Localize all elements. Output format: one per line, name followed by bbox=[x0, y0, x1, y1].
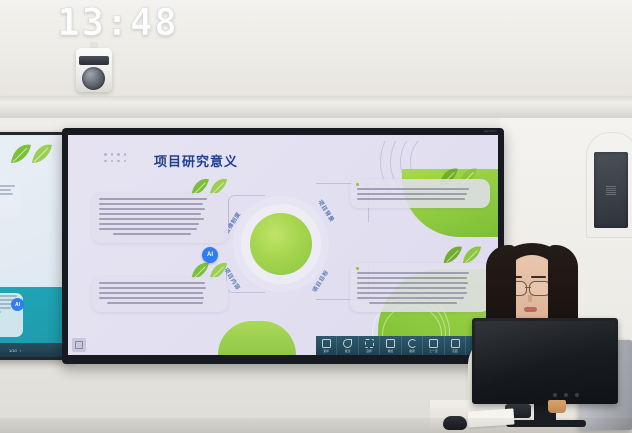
wall-trim-molding bbox=[0, 96, 632, 118]
toolbar-item-eraser[interactable]: 橡皮 bbox=[380, 336, 401, 355]
green-shape-bottom-left bbox=[218, 321, 296, 355]
next-icon[interactable]: › bbox=[20, 346, 28, 354]
leaf-icon bbox=[7, 141, 53, 167]
desk-cup bbox=[548, 400, 566, 413]
toolbar-item-select[interactable]: 选择 bbox=[359, 336, 380, 355]
wall-panel-outline bbox=[586, 132, 632, 238]
page-indicator: 1/10 bbox=[9, 348, 17, 353]
monitor-button[interactable] bbox=[553, 393, 557, 397]
secondary-text-card bbox=[0, 183, 21, 217]
title-dot-decor bbox=[104, 153, 144, 166]
ai-watermark-badge: AI bbox=[11, 298, 24, 311]
toolbar-item-menu[interactable]: 菜单 bbox=[316, 336, 337, 355]
center-circle-graphic bbox=[250, 213, 312, 275]
toolbar-item-pen[interactable]: 批注 bbox=[337, 336, 358, 355]
slide-text-card-top-left: 强制清算法律制度设立的目的还是通过正义程序的确立，实现平等保护各方利益主体目的，… bbox=[92, 193, 228, 243]
select-icon bbox=[365, 339, 374, 348]
slide-text-card-bottom-left: 本项目对我国清算义务人概念的确立的过程进行系统性梳理，明确清算义务的性质和具体内… bbox=[92, 277, 228, 312]
presenter-mouth bbox=[524, 307, 537, 312]
page-icon bbox=[451, 339, 460, 348]
glasses-bridge bbox=[525, 287, 531, 288]
interactive-whiteboard[interactable]: 项目研究意义 法律制度 项目背景 项目内容 项目目标 bbox=[62, 128, 504, 364]
clock-time: 13:48 bbox=[57, 1, 178, 44]
monitor-screen[interactable] bbox=[475, 321, 615, 399]
toolbox-icon[interactable] bbox=[72, 338, 86, 352]
led-wall-clock: 13:48 bbox=[64, 2, 172, 42]
pen-icon bbox=[343, 339, 352, 348]
prev-icon[interactable]: ‹ bbox=[0, 346, 6, 354]
monitor-buttons[interactable] bbox=[553, 393, 579, 397]
classroom-scene: 13:48 bbox=[0, 0, 632, 433]
menu-icon bbox=[322, 339, 331, 348]
camera-ir-strip bbox=[79, 56, 109, 65]
security-camera-icon bbox=[76, 48, 112, 92]
ai-watermark-badge: AI bbox=[202, 247, 218, 263]
slide-text-card-bottom-right: 本项目对司法实践中涉及清算义务人责任问题的纠纷案件进行梳理归纳，结合法律规范，从… bbox=[350, 263, 490, 312]
toolbar-item-prev-page[interactable]: 上一页 bbox=[423, 336, 444, 355]
monitor-button[interactable] bbox=[564, 393, 568, 397]
bullet-dot-icon bbox=[356, 183, 359, 186]
screen-brand-logo: SEEWO bbox=[484, 129, 497, 133]
eraser-icon bbox=[386, 339, 395, 348]
secondary-slide-top bbox=[0, 135, 71, 287]
slide-text-card-top-right: 本项目旨在聚焦公司强制清算的条件，界定可申请法院强制清算的主体范围，探究债权人申… bbox=[350, 179, 490, 208]
dell-monitor[interactable] bbox=[472, 318, 618, 404]
undo-icon bbox=[408, 339, 417, 348]
camera-lens-icon bbox=[82, 67, 105, 90]
toolbar-item-page[interactable]: 页面 bbox=[445, 336, 466, 355]
presentation-slide: 项目研究意义 法律制度 项目背景 项目内容 项目目标 bbox=[68, 135, 498, 355]
monitor-button[interactable] bbox=[575, 393, 579, 397]
presenter-nose bbox=[528, 295, 532, 302]
toolbar-item-undo[interactable]: 撤销 bbox=[402, 336, 423, 355]
slide-title: 项目研究意义 bbox=[154, 151, 238, 170]
prev-page-icon bbox=[429, 339, 438, 348]
whiteboard-display-area[interactable]: 项目研究意义 法律制度 项目背景 项目内容 项目目标 bbox=[68, 135, 498, 355]
floor-shadow bbox=[0, 418, 632, 433]
presenter-eyebrow bbox=[531, 276, 546, 278]
bullet-dot-icon bbox=[356, 267, 359, 270]
